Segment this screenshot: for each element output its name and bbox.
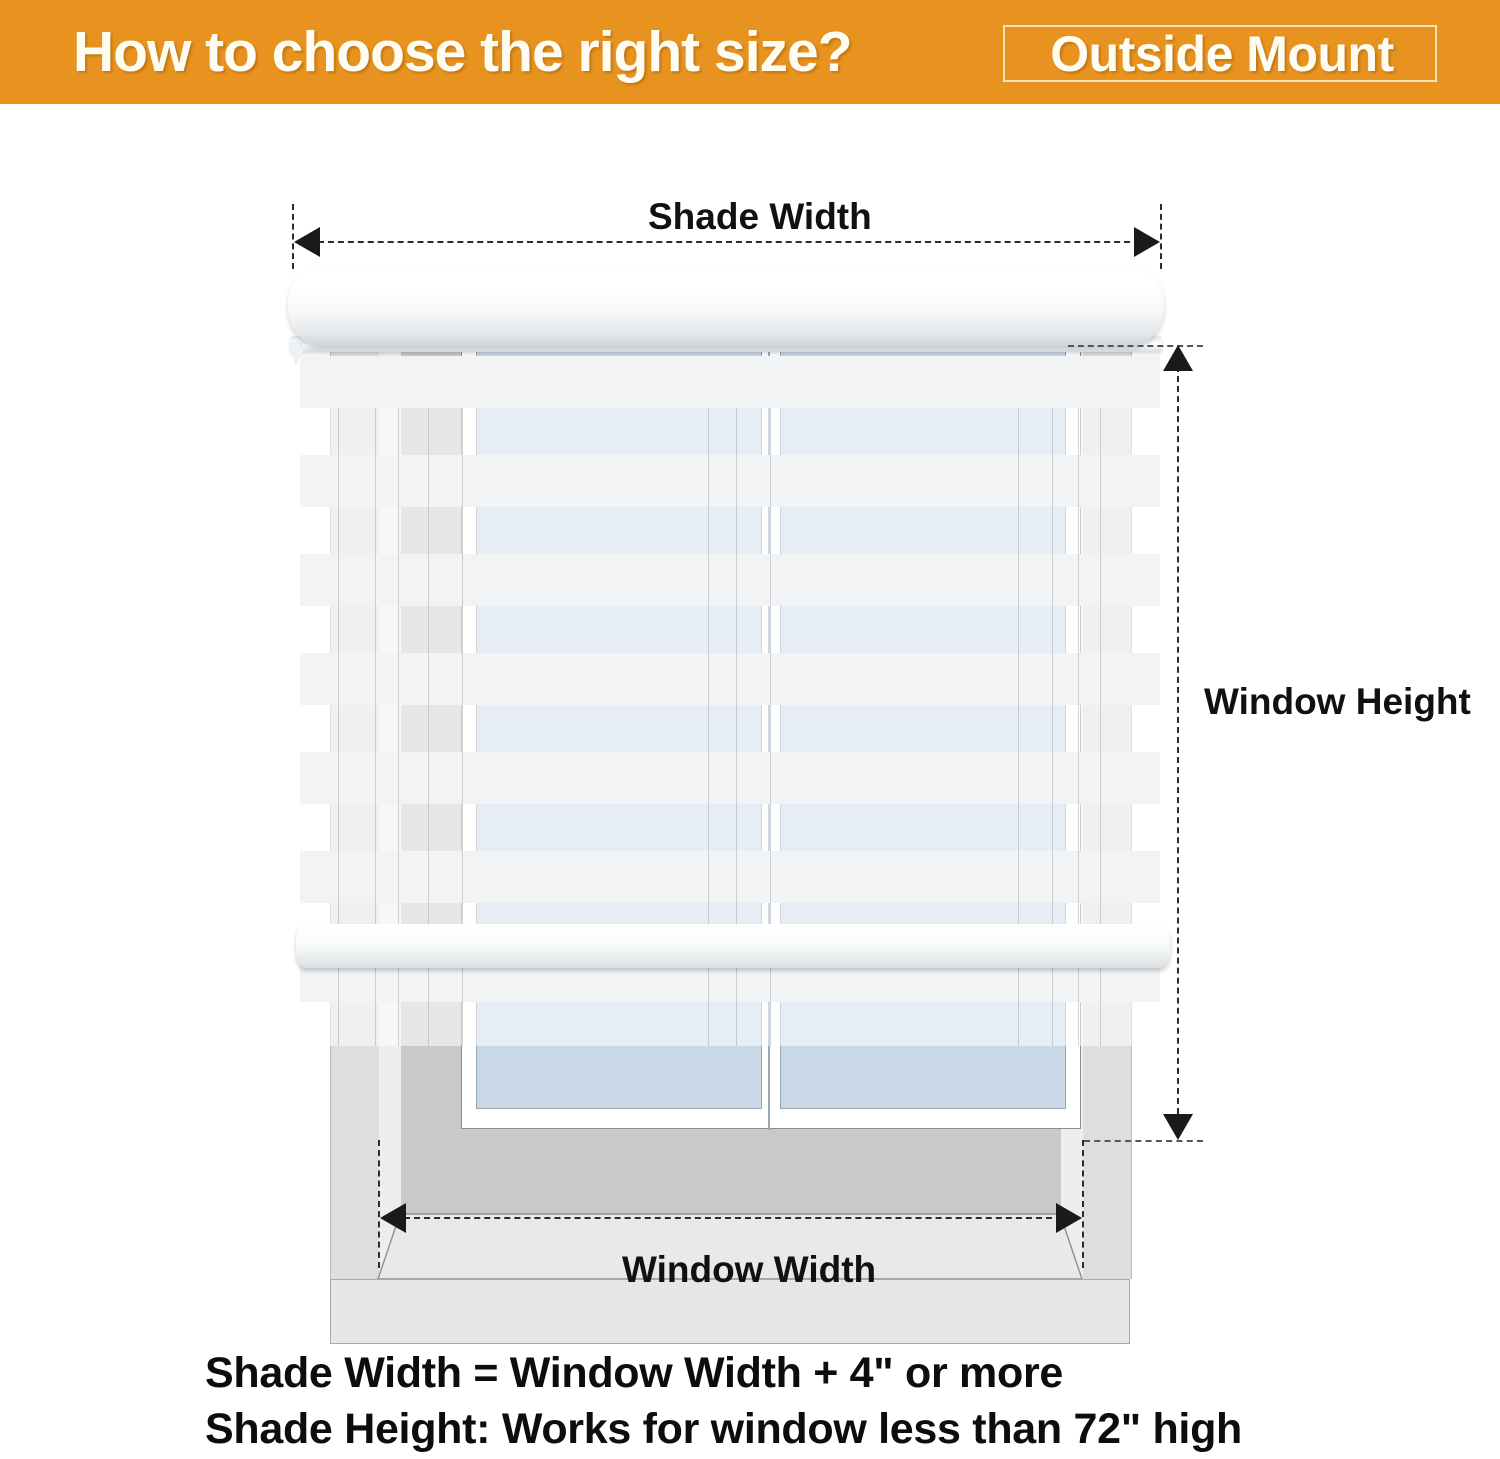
window-height-arrow-top xyxy=(1163,345,1193,371)
mount-type-label: Outside Mount xyxy=(1005,24,1439,84)
window-width-label: Window Width xyxy=(622,1250,876,1290)
window-height-dimension-line xyxy=(1177,366,1179,1124)
size-guide-diagram: Shade Width Window Height Window Width xyxy=(0,104,1500,1334)
window-width-arrow-left xyxy=(380,1203,406,1233)
shade-width-dimension-line xyxy=(318,241,1140,243)
window-height-label: Window Height xyxy=(1204,682,1471,722)
fabric-band-sheer xyxy=(300,507,1160,554)
fabric-band-opaque xyxy=(300,455,1160,507)
fabric-band-sheer xyxy=(300,606,1160,653)
fabric-band-sheer xyxy=(300,804,1160,851)
note-shade-width: Shade Width = Window Width + 4" or more xyxy=(205,1345,1405,1401)
window-height-arrow-bottom xyxy=(1163,1114,1193,1140)
page-title: How to choose the right size? xyxy=(73,21,852,83)
shade-bottom-rail xyxy=(296,924,1170,968)
shade-width-arrow-left xyxy=(294,227,320,257)
fabric-band-sheer xyxy=(300,408,1160,455)
window-height-extension-bottom xyxy=(1084,1140,1203,1142)
fabric-band-sheer xyxy=(300,705,1160,752)
shade-headrail xyxy=(288,266,1164,346)
shade-width-label: Shade Width xyxy=(648,197,872,237)
fabric-band-opaque xyxy=(300,356,1160,408)
fabric-band-opaque xyxy=(300,554,1160,606)
shade-width-extension-right xyxy=(1160,204,1162,269)
header-banner: How to choose the right size? Outside Mo… xyxy=(0,0,1500,104)
window-width-extension-right xyxy=(1082,1140,1084,1268)
window-width-dimension-line xyxy=(404,1217,1062,1219)
footer-notes: Shade Width = Window Width + 4" or more … xyxy=(205,1345,1405,1457)
shade-width-arrow-right xyxy=(1134,227,1160,257)
fabric-band-opaque xyxy=(300,851,1160,903)
fabric-band-sheer xyxy=(300,1002,1160,1046)
window-width-arrow-right xyxy=(1056,1203,1082,1233)
note-shade-height: Shade Height: Works for window less than… xyxy=(205,1401,1405,1457)
mount-type-badge: Outside Mount xyxy=(1003,25,1437,82)
fabric-band-opaque xyxy=(300,752,1160,804)
fabric-band-opaque xyxy=(300,653,1160,705)
